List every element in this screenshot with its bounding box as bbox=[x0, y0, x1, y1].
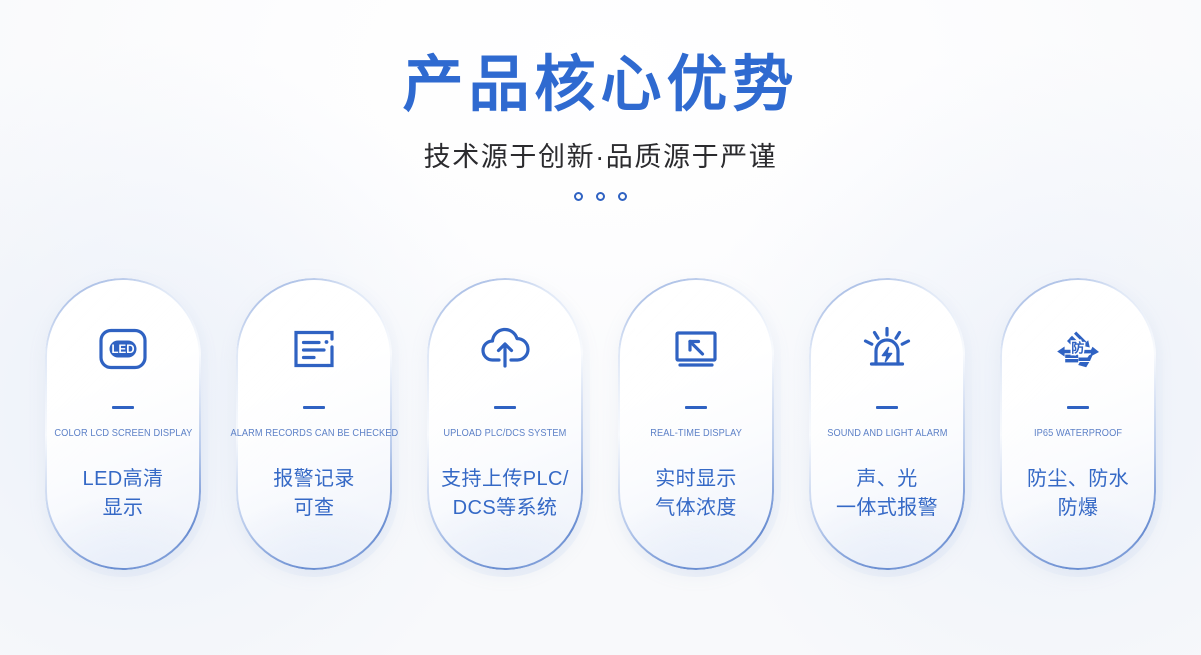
card-title: 实时显示 气体浓度 bbox=[649, 465, 743, 524]
alarm-record-document-icon bbox=[286, 320, 342, 378]
card-caption: UPLOAD PLC/DCS SYSTEM bbox=[443, 427, 566, 439]
card-title: 声、光 一体式报警 bbox=[830, 465, 944, 524]
card-title: LED高清 显示 bbox=[77, 465, 170, 524]
dot-icon bbox=[596, 192, 605, 201]
card-caption: REAL-TIME DISPLAY bbox=[650, 427, 742, 439]
feature-card[interactable]: UPLOAD PLC/DCS SYSTEM 支持上传PLC/ DCS等系统 bbox=[427, 278, 583, 570]
cloud-upload-icon bbox=[475, 320, 535, 378]
decorative-dots bbox=[0, 192, 1201, 201]
card-divider bbox=[685, 406, 707, 409]
led-screen-icon: LED bbox=[95, 320, 151, 378]
page-header: 产品核心优势 技术源于创新·品质源于严谨 bbox=[0, 0, 1201, 201]
led-icon-label: LED bbox=[112, 344, 135, 356]
card-caption: SOUND AND LIGHT ALARM bbox=[827, 427, 947, 439]
card-divider bbox=[494, 406, 516, 409]
card-divider bbox=[876, 406, 898, 409]
card-caption: IP65 WATERPROOF bbox=[1034, 427, 1122, 439]
feature-card[interactable]: ALARM RECORDS CAN BE CHECKED 报警记录 可查 bbox=[236, 278, 392, 570]
protection-icon-label: 防 bbox=[1071, 341, 1084, 356]
dot-icon bbox=[618, 192, 627, 201]
page-title: 产品核心优势 bbox=[0, 52, 1201, 118]
card-divider bbox=[1067, 406, 1089, 409]
card-caption: COLOR LCD SCREEN DISPLAY bbox=[54, 427, 192, 439]
card-title: 防尘、防水 防爆 bbox=[1021, 465, 1135, 524]
card-title: 报警记录 可查 bbox=[267, 465, 361, 524]
protection-recycle-icon: 防 bbox=[1048, 320, 1108, 378]
feature-card[interactable]: REAL-TIME DISPLAY 实时显示 气体浓度 bbox=[618, 278, 774, 570]
feature-card[interactable]: 防 IP65 WATERPROOF 防尘、防水 防爆 bbox=[1000, 278, 1156, 570]
card-title: 支持上传PLC/ DCS等系统 bbox=[435, 465, 575, 524]
page-subtitle: 技术源于创新·品质源于严谨 bbox=[0, 135, 1201, 174]
sound-light-alarm-beacon-icon bbox=[857, 320, 917, 378]
monitor-realtime-icon bbox=[666, 320, 726, 378]
feature-card[interactable]: LED COLOR LCD SCREEN DISPLAY LED高清 显示 bbox=[45, 278, 201, 570]
dot-icon bbox=[574, 192, 583, 201]
card-caption: ALARM RECORDS CAN BE CHECKED bbox=[230, 427, 398, 439]
feature-card-row: LED COLOR LCD SCREEN DISPLAY LED高清 显示 AL… bbox=[45, 278, 1156, 570]
feature-card[interactable]: SOUND AND LIGHT ALARM 声、光 一体式报警 bbox=[809, 278, 965, 570]
card-divider bbox=[303, 406, 325, 409]
card-divider bbox=[112, 406, 134, 409]
